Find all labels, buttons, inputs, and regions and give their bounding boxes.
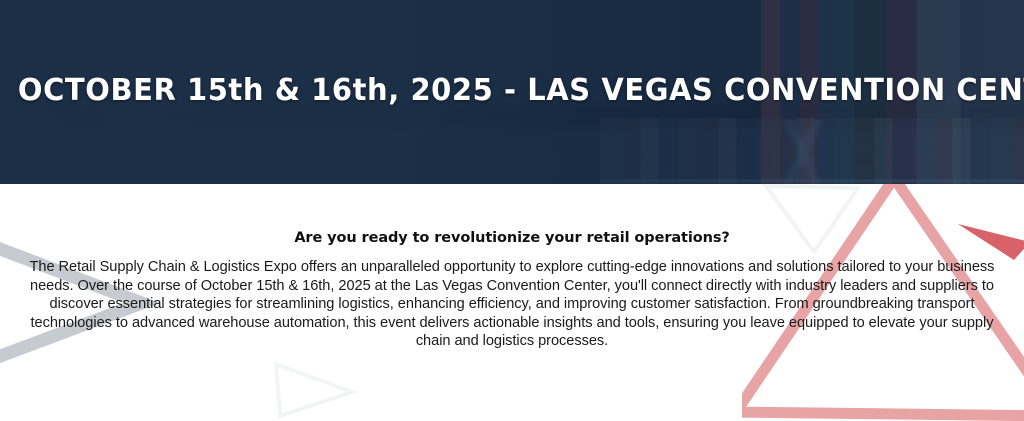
body-subheading: Are you ready to revolutionize your reta… [0, 230, 1024, 246]
hero-banner: OCTOBER 15th & 16th, 2025 - LAS VEGAS CO… [0, 0, 1024, 184]
event-date-location-title: OCTOBER 15th & 16th, 2025 - LAS VEGAS CO… [18, 76, 1006, 106]
body-content: Are you ready to revolutionize your reta… [0, 184, 1024, 421]
event-info-page: OCTOBER 15th & 16th, 2025 - LAS VEGAS CO… [0, 0, 1024, 421]
body-paragraph: The Retail Supply Chain & Logistics Expo… [24, 258, 1000, 351]
